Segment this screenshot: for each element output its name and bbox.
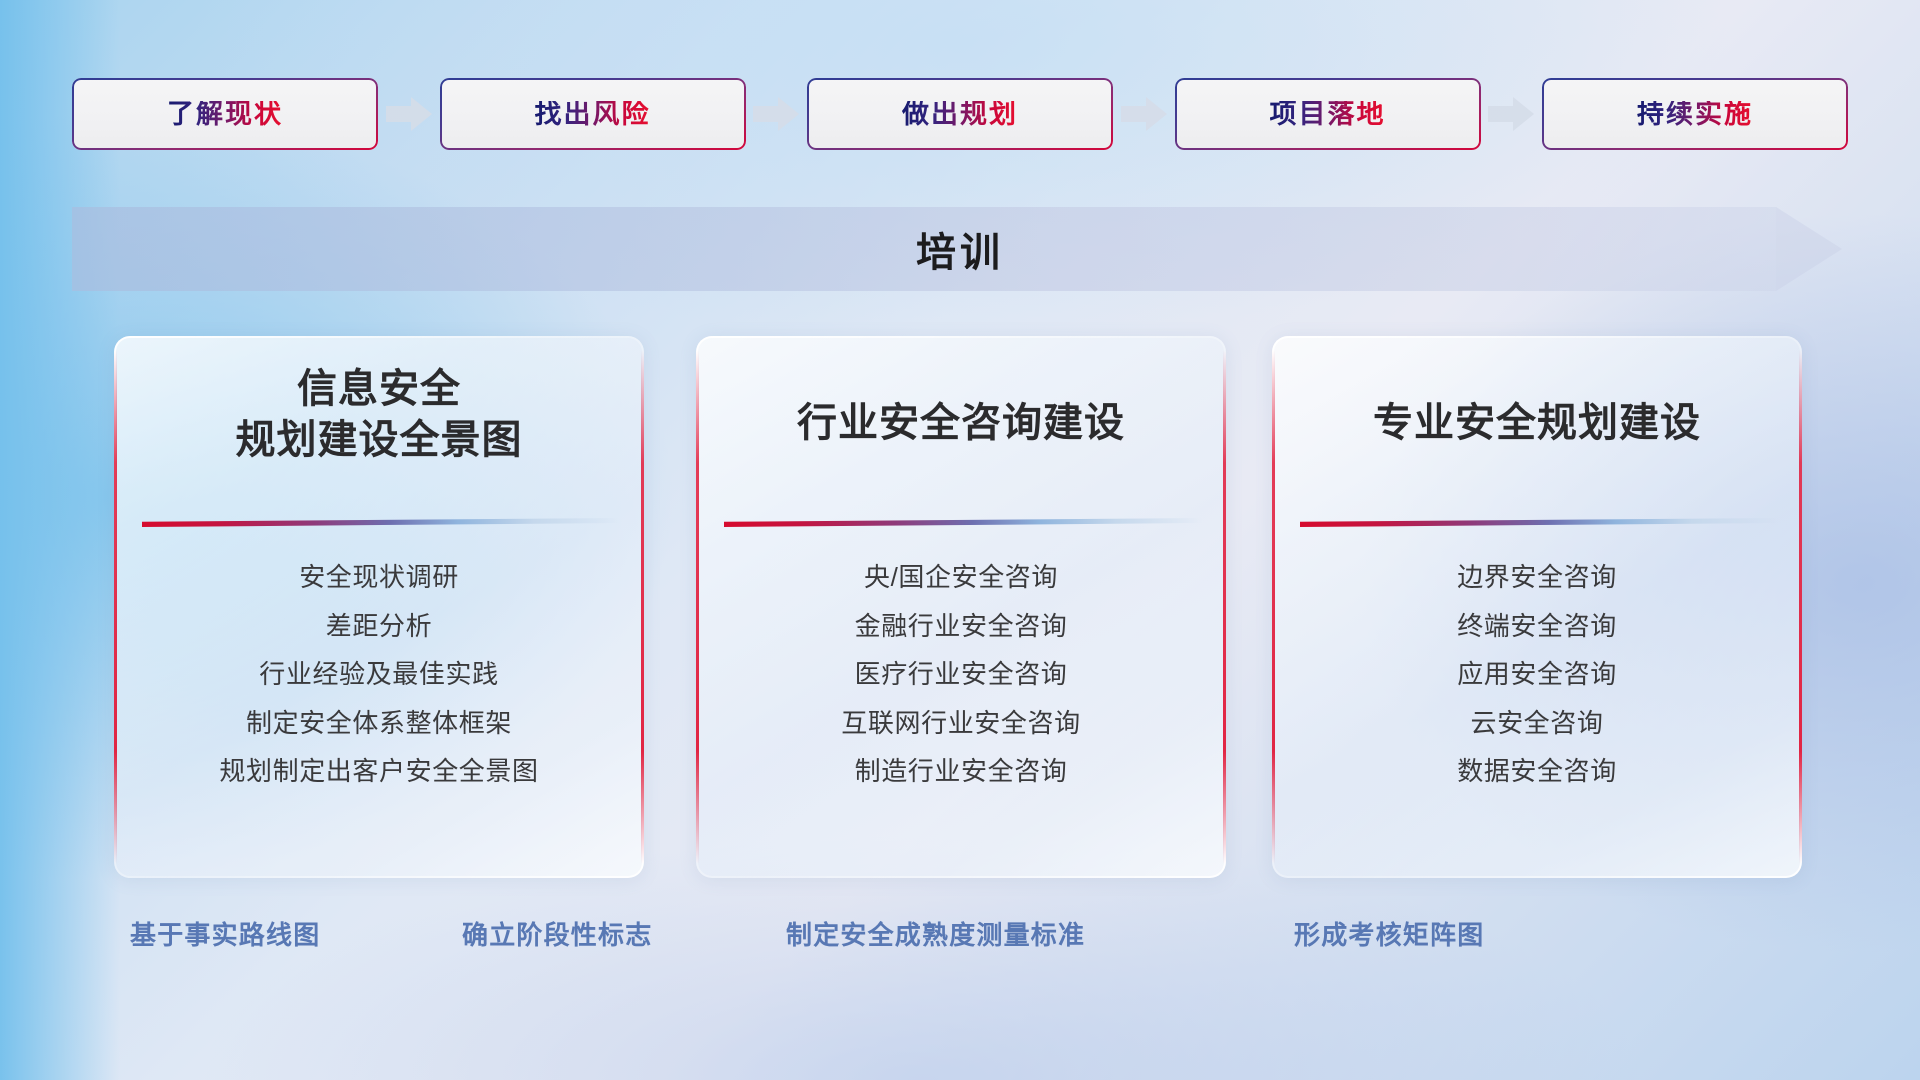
list-item: 制定安全体系整体框架 <box>246 704 512 744</box>
list-item: 应用安全咨询 <box>1457 655 1617 695</box>
list-item: 边界安全咨询 <box>1457 558 1617 598</box>
step-wrap-3: 项目落地 <box>1175 78 1481 150</box>
step-wrap-2: 做出规划 <box>807 78 1113 150</box>
step-label: 项目落地 <box>1270 101 1386 128</box>
card-title: 专业安全规划建设 <box>1272 398 1802 449</box>
footer-label-assessment-matrix: 形成考核矩阵图 <box>1294 905 1484 965</box>
arrow-right-icon <box>378 78 440 150</box>
list-item: 差距分析 <box>326 607 432 647</box>
footer-label-milestones: 确立阶段性标志 <box>462 905 652 965</box>
list-item: 云安全咨询 <box>1470 704 1603 744</box>
step-label: 找出风险 <box>535 101 651 128</box>
card-title-line1: 信息安全 <box>136 364 622 415</box>
step-box-continuous-implementation[interactable]: 持续实施 <box>1542 78 1848 150</box>
card-divider <box>142 518 620 527</box>
list-item: 规划制定出客户安全全景图 <box>219 752 538 792</box>
arrow-right-icon <box>1481 78 1543 150</box>
list-item: 金融行业安全咨询 <box>855 607 1068 647</box>
list-item: 行业经验及最佳实践 <box>259 655 498 695</box>
card-item-list: 央/国企安全咨询 金融行业安全咨询 医疗行业安全咨询 互联网行业安全咨询 制造行… <box>714 558 1208 792</box>
card-title: 信息安全 规划建设全景图 <box>114 364 644 466</box>
footer-label-maturity-standard: 制定安全成熟度测量标准 <box>786 905 1085 965</box>
arrow-right-icon <box>1113 78 1175 150</box>
card-title-line1: 行业安全咨询建设 <box>718 398 1204 449</box>
arrow-right-icon <box>746 78 808 150</box>
list-item: 安全现状调研 <box>299 558 459 598</box>
list-item: 央/国企安全咨询 <box>864 558 1058 598</box>
list-item: 终端安全咨询 <box>1457 607 1617 647</box>
card-group: 信息安全 规划建设全景图 安全现状调研 差距分析 行业经验及最佳实践 制定安全体… <box>0 336 1920 878</box>
footer-label-roadmap: 基于事实路线图 <box>130 905 320 965</box>
step-label: 持续实施 <box>1637 101 1753 128</box>
footer-label-row: 基于事实路线图 确立阶段性标志 制定安全成熟度测量标准 形成考核矩阵图 <box>0 905 1920 965</box>
card-item-list: 安全现状调研 差距分析 行业经验及最佳实践 制定安全体系整体框架 规划制定出客户… <box>132 558 626 792</box>
step-wrap-0: 了解现状 <box>72 78 378 150</box>
list-item: 互联网行业安全咨询 <box>841 704 1080 744</box>
card-title-line2: 规划建设全景图 <box>136 415 622 466</box>
card-security-blueprint[interactable]: 信息安全 规划建设全景图 安全现状调研 差距分析 行业经验及最佳实践 制定安全体… <box>114 336 644 878</box>
infographic-stage: 了解现状 找出风险 做出规划 <box>0 0 1920 1080</box>
step-label: 了解现状 <box>167 101 283 128</box>
card-title: 行业安全咨询建设 <box>696 398 1226 449</box>
list-item: 医疗行业安全咨询 <box>855 655 1068 695</box>
card-divider <box>724 518 1202 527</box>
step-box-make-plan[interactable]: 做出规划 <box>807 78 1113 150</box>
step-wrap-1: 找出风险 <box>440 78 746 150</box>
process-step-flow: 了解现状 找出风险 做出规划 <box>72 78 1848 150</box>
banner-title: 培训 <box>0 207 1920 291</box>
card-professional-planning[interactable]: 专业安全规划建设 边界安全咨询 终端安全咨询 应用安全咨询 云安全咨询 数据安全… <box>1272 336 1802 878</box>
step-label: 做出规划 <box>902 101 1018 128</box>
step-box-understand-status[interactable]: 了解现状 <box>72 78 378 150</box>
card-item-list: 边界安全咨询 终端安全咨询 应用安全咨询 云安全咨询 数据安全咨询 <box>1290 558 1784 792</box>
card-title-line1: 专业安全规划建设 <box>1294 398 1780 449</box>
step-box-project-landing[interactable]: 项目落地 <box>1175 78 1481 150</box>
list-item: 制造行业安全咨询 <box>855 752 1068 792</box>
card-industry-consulting[interactable]: 行业安全咨询建设 央/国企安全咨询 金融行业安全咨询 医疗行业安全咨询 互联网行… <box>696 336 1226 878</box>
step-wrap-4: 持续实施 <box>1542 78 1848 150</box>
list-item: 数据安全咨询 <box>1457 752 1617 792</box>
step-box-find-risk[interactable]: 找出风险 <box>440 78 746 150</box>
card-divider <box>1300 518 1778 527</box>
